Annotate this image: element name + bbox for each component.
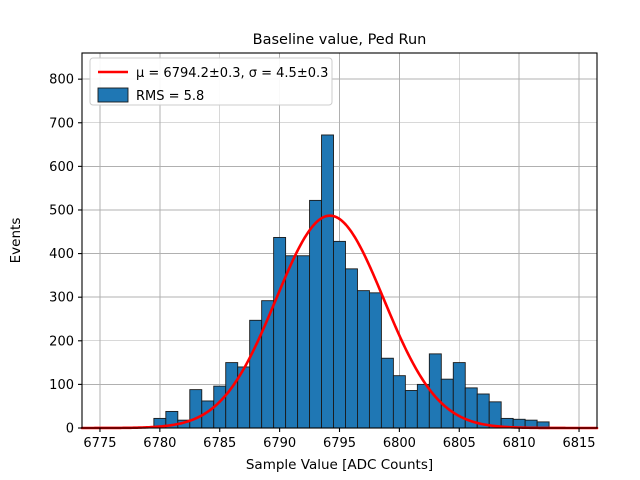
histogram-bar [417,384,429,428]
histogram-chart: 677567806785679067956800680568106815 010… [0,0,640,480]
y-tick-label: 100 [49,378,74,393]
histogram-bar [405,391,417,429]
histogram-bar [310,200,322,428]
x-axis-ticks: 677567806785679067956800680568106815 [83,428,595,451]
x-tick-label: 6795 [323,436,356,451]
y-tick-label: 700 [49,116,74,131]
histogram-bar [286,256,298,428]
figure-canvas: 677567806785679067956800680568106815 010… [0,0,640,480]
histogram-bar [381,358,393,428]
x-tick-label: 6810 [503,436,536,451]
histogram-bar [345,269,357,428]
histogram-bar [357,291,369,428]
histogram-bar [334,241,346,428]
x-tick-label: 6805 [443,436,476,451]
chart-title: Baseline value, Ped Run [253,32,427,48]
legend-entry-label: RMS = 5.8 [136,89,204,104]
y-tick-label: 500 [49,203,74,218]
histogram-bar [489,402,501,428]
x-tick-label: 6800 [383,436,416,451]
x-tick-label: 6780 [143,436,176,451]
histogram-bar [274,237,286,428]
y-tick-label: 0 [66,422,74,437]
y-tick-label: 200 [49,334,74,349]
y-tick-label: 800 [49,73,74,88]
y-axis-label: Events [8,218,24,264]
histogram-bar [190,390,202,428]
x-tick-label: 6785 [203,436,236,451]
histogram-bar [226,363,238,428]
histogram-bar [298,256,310,428]
legend-entry-label: μ = 6794.2±0.3, σ = 4.5±0.3 [136,66,328,81]
x-tick-label: 6775 [83,436,116,451]
chart-legend[interactable]: μ = 6794.2±0.3, σ = 4.5±0.3RMS = 5.8 [90,58,332,105]
y-tick-label: 600 [49,160,74,175]
y-tick-label: 300 [49,291,74,306]
y-tick-label: 400 [49,247,74,262]
x-axis-label: Sample Value [ADC Counts] [246,457,433,473]
histogram-bar [393,376,405,428]
histogram-bar [369,293,381,428]
legend-patch-marker [98,88,128,102]
x-tick-label: 6790 [263,436,296,451]
y-axis-ticks: 0100200300400500600700800 [49,73,82,437]
x-tick-label: 6815 [562,436,595,451]
histogram-bar [322,135,334,428]
